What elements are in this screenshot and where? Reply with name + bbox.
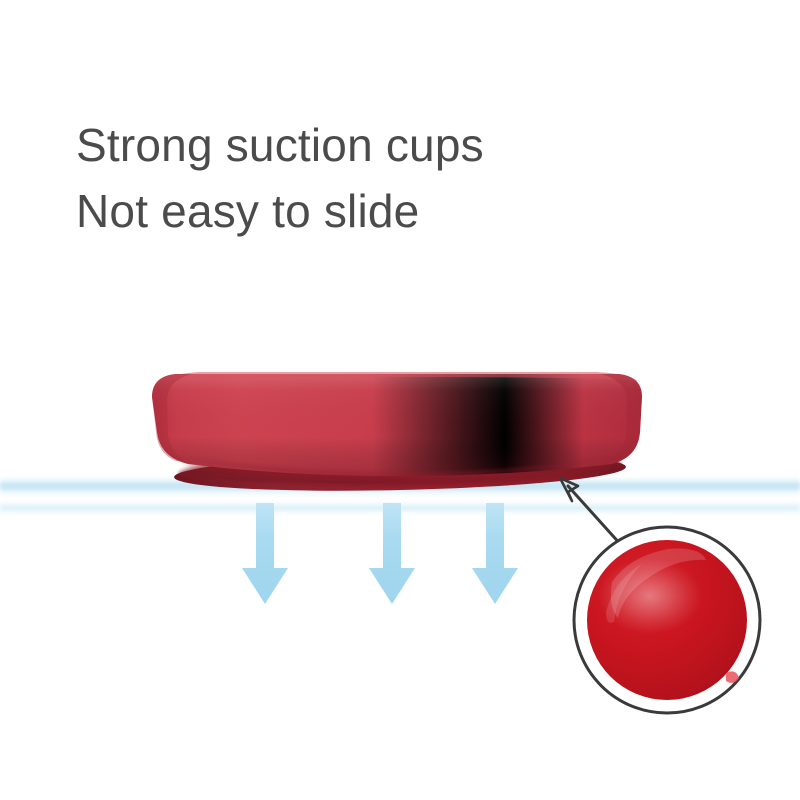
force-arrow-1 (242, 503, 288, 604)
force-arrow-3 (472, 503, 518, 604)
detail-magnifier-callout (574, 527, 760, 713)
force-arrow-2 (369, 503, 415, 604)
red-suction-bowl (152, 372, 642, 478)
downward-force-arrows (242, 503, 518, 604)
product-illustration (0, 0, 800, 800)
illustration-canvas: Strong suction cups Not easy to slide (0, 0, 800, 800)
